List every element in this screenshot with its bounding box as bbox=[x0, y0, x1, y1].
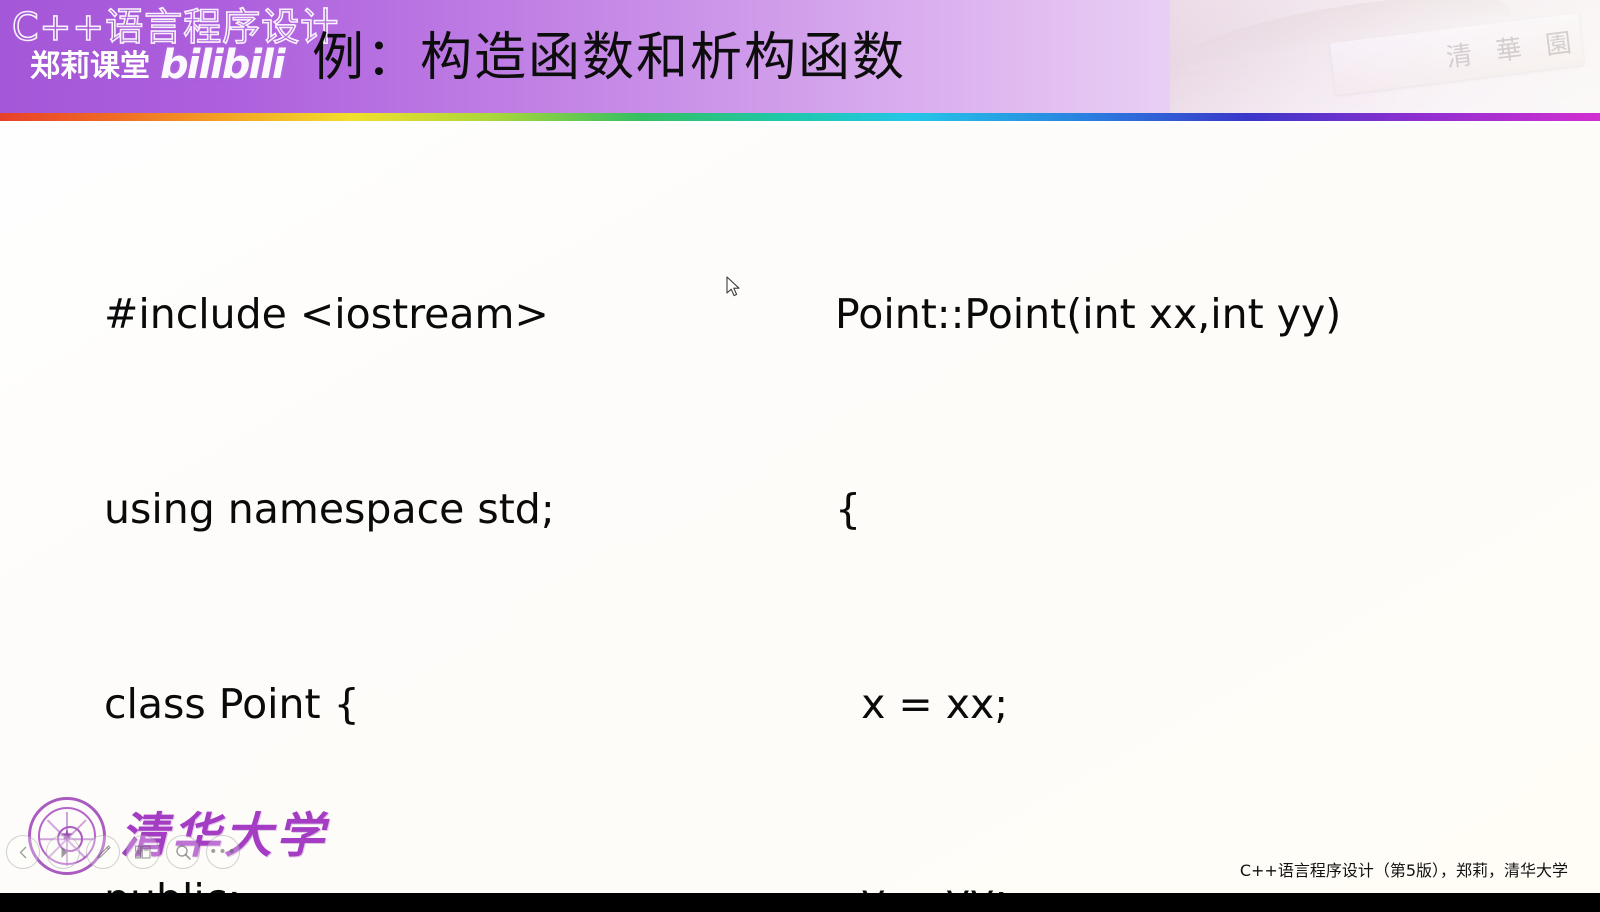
slide-header-banner: 清 華 園 C++语言程序设计 郑莉课堂 bilibili 例：构造函数和析构函… bbox=[0, 0, 1600, 113]
rainbow-divider-fade bbox=[0, 121, 1600, 127]
code-line: Point::Point(int xx,int yy) bbox=[835, 282, 1341, 347]
code-block-right: Point::Point(int xx,int yy) { x = xx; y … bbox=[835, 152, 1341, 893]
watermark-course-outline: C++语言程序设计 bbox=[12, 8, 339, 46]
photo-glyph-3: 園 bbox=[1543, 22, 1575, 62]
mouse-cursor bbox=[726, 276, 744, 300]
watermark-row: 郑莉课堂 bilibili bbox=[30, 48, 284, 82]
magnifier-icon bbox=[175, 844, 192, 861]
code-line: x = xx; bbox=[835, 672, 1341, 737]
grid-slides-icon bbox=[135, 845, 151, 860]
triangle-right-icon bbox=[57, 846, 70, 859]
triangle-left-icon bbox=[17, 846, 30, 859]
code-line: { bbox=[835, 477, 1341, 542]
previous-slide-button[interactable] bbox=[6, 835, 40, 869]
watermark-uploader-name: 郑莉课堂 bbox=[30, 52, 150, 82]
bilibili-watermark: C++语言程序设计 郑莉课堂 bilibili bbox=[8, 8, 308, 104]
slide-title: 例：构造函数和析构函数 bbox=[312, 30, 906, 87]
rainbow-divider bbox=[0, 113, 1600, 121]
pen-tool-button[interactable] bbox=[86, 835, 120, 869]
code-block-left: #include <iostream> using namespace std;… bbox=[104, 152, 555, 893]
zoom-slide-button[interactable] bbox=[166, 835, 200, 869]
ellipsis-icon: ••• bbox=[209, 845, 237, 859]
bilibili-logo: bilibili bbox=[160, 48, 284, 82]
bottom-letterbox-bar bbox=[0, 893, 1600, 912]
footer-credit: C++语言程序设计（第5版），郑莉，清华大学 bbox=[1240, 857, 1568, 881]
presentation-stage: 清 華 園 C++语言程序设计 郑莉课堂 bilibili 例：构造函数和析构函… bbox=[0, 0, 1600, 912]
photo-glyph-2: 華 bbox=[1493, 28, 1525, 68]
pen-icon bbox=[95, 844, 112, 861]
tsinghua-gate-photo: 清 華 園 bbox=[1170, 0, 1600, 113]
slide-canvas: 清 華 園 C++语言程序设计 郑莉课堂 bilibili 例：构造函数和析构函… bbox=[0, 0, 1600, 893]
slideshow-toolbar[interactable]: ••• bbox=[6, 835, 240, 869]
all-slides-button[interactable] bbox=[126, 835, 160, 869]
next-slide-button[interactable] bbox=[46, 835, 80, 869]
code-line: using namespace std; bbox=[104, 477, 555, 542]
more-options-button[interactable]: ••• bbox=[206, 835, 240, 869]
code-line: #include <iostream> bbox=[104, 282, 555, 347]
photo-glyph-1: 清 bbox=[1444, 34, 1476, 74]
code-line: class Point { bbox=[104, 672, 555, 737]
